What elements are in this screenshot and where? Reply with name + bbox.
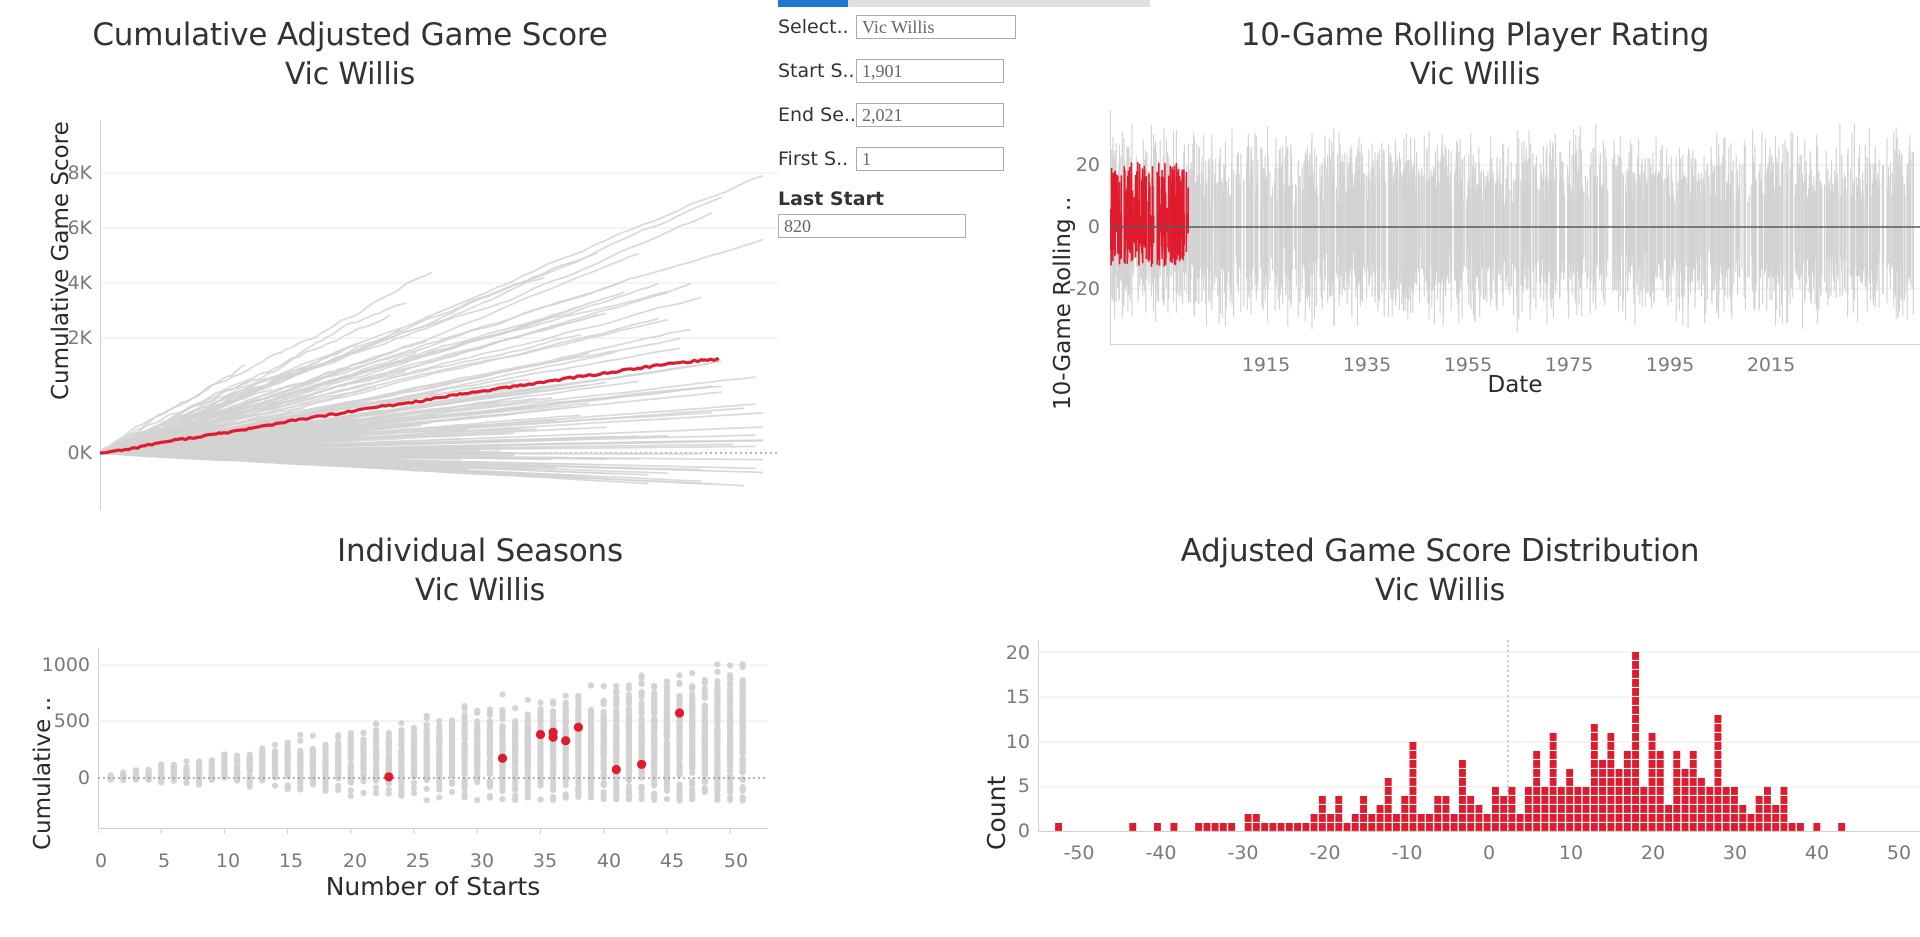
- control-row-select-player: Select.. Vic Willis: [778, 14, 1016, 40]
- distribution-xtick-0: 0: [1483, 842, 1495, 864]
- distribution-xtick-neg30: -30: [1227, 842, 1258, 864]
- distribution-xtick-neg50: -50: [1063, 842, 1094, 864]
- seasons-xtick-30: 30: [470, 850, 494, 872]
- seasons-ytick-500: 500: [34, 710, 90, 732]
- seasons-ytick-0: 0: [34, 767, 90, 789]
- cumulative-ytick-6k: 6K: [52, 217, 92, 239]
- seasons-plot-area[interactable]: [98, 648, 768, 828]
- distribution-chart-subtitle: Vic Willis: [960, 572, 1920, 610]
- panel-game-score-distribution: Adjusted Game Score Distribution Vic Wil…: [960, 520, 1920, 937]
- distribution-xtick-10: 10: [1559, 842, 1583, 864]
- end-season-input[interactable]: 2,021: [856, 103, 1004, 127]
- first-start-input[interactable]: 1: [856, 147, 1004, 171]
- label-first-start: First S..: [778, 148, 856, 170]
- distribution-xtick-neg20: -20: [1309, 842, 1340, 864]
- rolling-chart-subtitle: Vic Willis: [1030, 56, 1920, 94]
- cumulative-chart-subtitle: Vic Willis: [0, 56, 700, 94]
- seasons-xtick-35: 35: [533, 850, 557, 872]
- distribution-chart-title: Adjusted Game Score Distribution: [960, 532, 1920, 572]
- control-row-end-season: End Se.. 2,021: [778, 102, 1004, 128]
- panel-individual-seasons: Individual Seasons Vic Willis Cumulative…: [0, 520, 960, 937]
- cumulative-ytick-8k: 8K: [52, 162, 92, 184]
- label-select-player: Select..: [778, 16, 856, 38]
- seasons-xtick-25: 25: [406, 850, 430, 872]
- seasons-chart-subtitle: Vic Willis: [0, 572, 960, 610]
- control-row-last-start: Last Start 820: [778, 188, 966, 238]
- panel-cumulative-adjusted-game-score: Cumulative Adjusted Game Score Vic Willi…: [0, 0, 778, 520]
- seasons-xtick-10: 10: [216, 850, 240, 872]
- distribution-ytick-15: 15: [986, 686, 1030, 708]
- start-season-input[interactable]: 1,901: [856, 59, 1004, 83]
- distribution-xtick-neg40: -40: [1145, 842, 1176, 864]
- label-end-season: End Se..: [778, 104, 856, 126]
- tab-active-indicator[interactable]: [778, 0, 848, 7]
- control-row-start-season: Start S.. 1,901: [778, 58, 1004, 84]
- distribution-plot-area[interactable]: [1038, 640, 1920, 832]
- cumulative-ytick-0k: 0K: [52, 442, 92, 464]
- distribution-svg: [1038, 640, 1920, 832]
- cumulative-chart-title: Cumulative Adjusted Game Score: [0, 16, 700, 56]
- distribution-xtick-50: 50: [1887, 842, 1911, 864]
- distribution-ytick-5: 5: [986, 775, 1030, 797]
- label-start-season: Start S..: [778, 60, 856, 82]
- distribution-ytick-20: 20: [986, 642, 1030, 664]
- seasons-chart-title: Individual Seasons: [0, 532, 960, 572]
- cumulative-plot-area[interactable]: [100, 120, 778, 510]
- dashboard: Select.. Vic Willis Start S.. 1,901 End …: [0, 0, 1920, 937]
- cumulative-ytick-4k: 4K: [52, 272, 92, 294]
- distribution-xtick-40: 40: [1805, 842, 1829, 864]
- seasons-axis-svg: [98, 828, 768, 850]
- rolling-chart-title: 10-Game Rolling Player Rating: [1030, 16, 1920, 56]
- distribution-xtick-neg10: -10: [1391, 842, 1422, 864]
- label-last-start: Last Start: [778, 188, 966, 210]
- rolling-svg: [1110, 110, 1920, 345]
- panel-rolling-player-rating: 10-Game Rolling Player Rating Vic Willis…: [1030, 0, 1920, 520]
- rolling-ytick-20: 20: [1060, 154, 1100, 176]
- control-row-first-start: First S.. 1: [778, 146, 1004, 172]
- seasons-svg: [98, 648, 768, 828]
- seasons-xtick-40: 40: [597, 850, 621, 872]
- cumulative-ytick-2k: 2K: [52, 327, 92, 349]
- distribution-ytick-0: 0: [986, 820, 1030, 842]
- cumulative-svg: [100, 120, 778, 510]
- rolling-ytick-0: 0: [1060, 216, 1100, 238]
- rolling-plot-area[interactable]: [1110, 110, 1920, 345]
- distribution-xtick-30: 30: [1723, 842, 1747, 864]
- rolling-x-axis-title: Date: [1110, 372, 1920, 398]
- seasons-axis-area: [98, 828, 768, 850]
- select-player-input[interactable]: Vic Willis: [856, 15, 1016, 39]
- distribution-ytick-10: 10: [986, 731, 1030, 753]
- seasons-xtick-15: 15: [279, 850, 303, 872]
- seasons-xtick-0: 0: [95, 850, 107, 872]
- seasons-ytick-1000: 1000: [34, 654, 90, 676]
- distribution-xtick-20: 20: [1641, 842, 1665, 864]
- seasons-xtick-5: 5: [158, 850, 170, 872]
- rolling-ytick-neg20: -20: [1052, 278, 1100, 300]
- seasons-xtick-50: 50: [724, 850, 748, 872]
- seasons-x-axis-title: Number of Starts: [98, 872, 768, 901]
- seasons-xtick-45: 45: [660, 850, 684, 872]
- last-start-input[interactable]: 820: [778, 214, 966, 238]
- seasons-xtick-20: 20: [343, 850, 367, 872]
